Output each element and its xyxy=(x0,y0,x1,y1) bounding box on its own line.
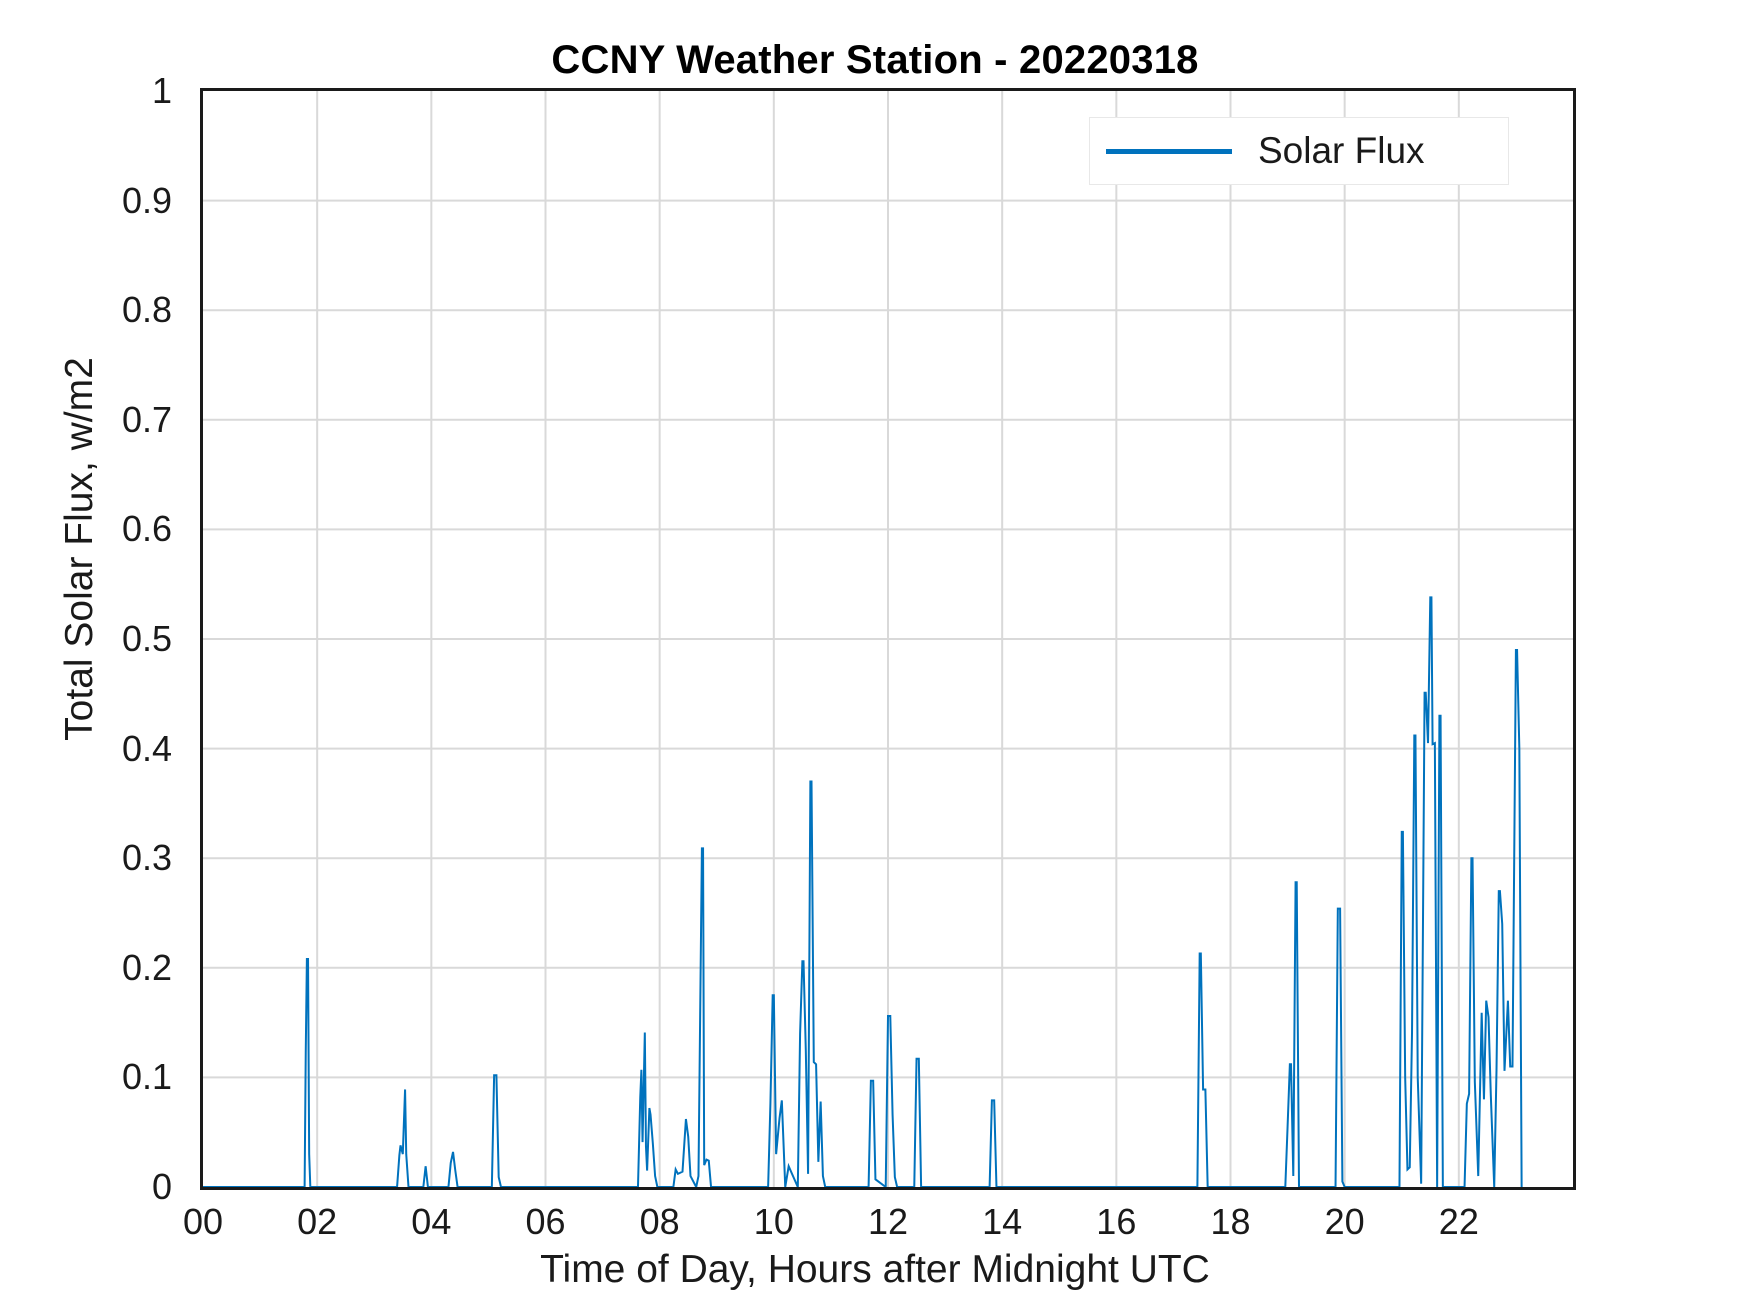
x-tick-label: 22 xyxy=(1399,1204,1519,1240)
legend: Solar Flux xyxy=(1089,117,1509,185)
x-tick-label: 14 xyxy=(942,1204,1062,1240)
y-tick-label: 0.7 xyxy=(12,402,172,438)
y-tick-label: 0.2 xyxy=(12,950,172,986)
x-tick-label: 20 xyxy=(1285,1204,1405,1240)
x-tick-label: 12 xyxy=(828,1204,948,1240)
x-tick-label: 06 xyxy=(486,1204,606,1240)
y-tick-label: 0.9 xyxy=(12,183,172,219)
x-tick-label: 08 xyxy=(600,1204,720,1240)
legend-label-solar-flux: Solar Flux xyxy=(1258,130,1425,172)
legend-swatch-solar-flux xyxy=(1106,149,1232,154)
figure-container: CCNY Weather Station - 20220318 Total So… xyxy=(0,0,1750,1313)
y-tick-label: 0.5 xyxy=(12,621,172,657)
x-tick-label: 16 xyxy=(1056,1204,1176,1240)
x-tick-label: 18 xyxy=(1171,1204,1291,1240)
x-tick-label: 04 xyxy=(371,1204,491,1240)
plot-area: Solar Flux xyxy=(200,88,1576,1190)
chart-title: CCNY Weather Station - 20220318 xyxy=(0,38,1750,83)
y-tick-label: 1 xyxy=(12,73,172,109)
data-series-layer xyxy=(203,91,1573,1187)
y-tick-label: 0 xyxy=(12,1169,172,1205)
x-tick-label: 10 xyxy=(714,1204,834,1240)
x-tick-label: 00 xyxy=(143,1204,263,1240)
y-tick-label: 0.1 xyxy=(12,1059,172,1095)
series-line-0 xyxy=(203,597,1522,1187)
x-tick-label: 02 xyxy=(257,1204,377,1240)
x-axis-title: Time of Day, Hours after Midnight UTC xyxy=(0,1248,1750,1292)
y-tick-label: 0.4 xyxy=(12,731,172,767)
y-tick-label: 0.8 xyxy=(12,292,172,328)
y-tick-label: 0.6 xyxy=(12,511,172,547)
y-tick-label: 0.3 xyxy=(12,840,172,876)
